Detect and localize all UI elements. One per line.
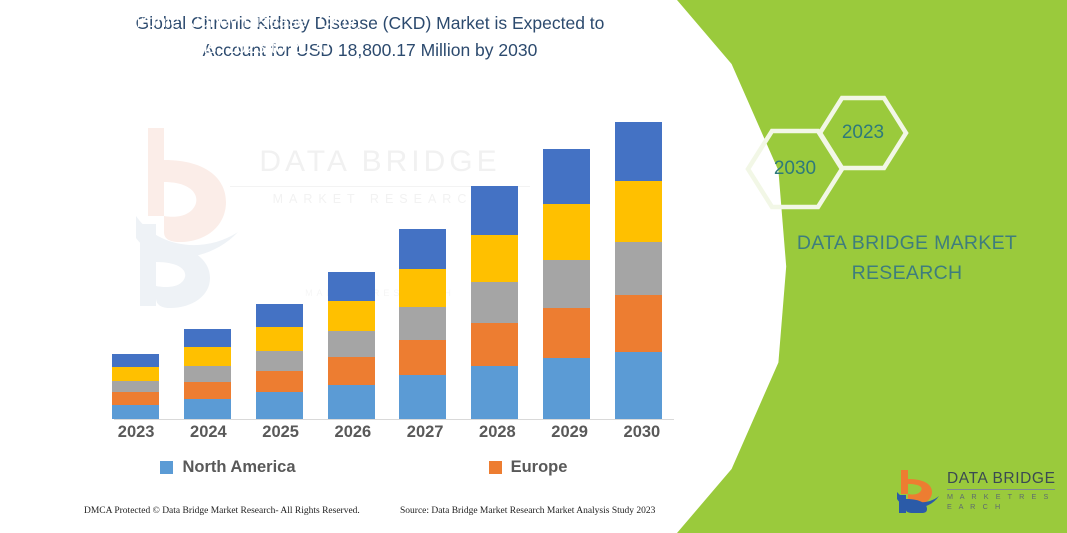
bar-segment	[256, 392, 303, 419]
stacked-bar-2023[interactable]	[112, 354, 159, 419]
bar-segment	[615, 181, 662, 242]
bar-segment	[471, 235, 518, 282]
bar-group	[459, 110, 531, 419]
data-bridge-logo-icon	[895, 468, 941, 514]
legend-label-europe: Europe	[511, 458, 568, 477]
x-axis-label: 2026	[317, 423, 389, 442]
bar-segment	[615, 295, 662, 352]
legend-swatch-north-america	[160, 461, 173, 474]
x-axis-label: 2029	[534, 423, 606, 442]
bar-segment	[543, 358, 590, 419]
stacked-bar-2029[interactable]	[543, 149, 590, 419]
hexagon-label-2023: 2023	[817, 95, 909, 171]
x-axis-label: 2024	[172, 423, 244, 442]
panel-heading-line-2: Market, By Regions, 2023 to 2030	[62, 34, 390, 60]
bar-segment	[184, 366, 231, 382]
bar-segment	[471, 323, 518, 366]
footer-source: Source: Data Bridge Market Research Mark…	[400, 506, 655, 516]
x-axis-label: 2025	[245, 423, 317, 442]
bar-segment	[399, 340, 446, 375]
stacked-bar-2024[interactable]	[184, 329, 231, 419]
x-axis-label: 2028	[461, 423, 533, 442]
data-bridge-logo-text: DATA BRIDGE M A R K E T R E S E A R C H	[947, 470, 1062, 512]
panel-brand-line-1: DATA BRIDGE MARKET	[742, 228, 1067, 258]
x-axis-label: 2023	[100, 423, 172, 442]
logo-rule	[947, 489, 1055, 490]
chart-legend: North America Europe	[78, 454, 678, 480]
legend-swatch-europe	[489, 461, 502, 474]
data-bridge-logo: DATA BRIDGE M A R K E T R E S E A R C H	[895, 466, 1060, 518]
panel-brand-line-2: RESEARCH	[742, 258, 1067, 288]
plot-area	[100, 110, 674, 420]
infographic-root: DATA BRIDGE MARKET RESEARCH MARKET RESEA…	[0, 0, 1067, 533]
bar-group	[244, 110, 316, 419]
stacked-bar-2030[interactable]	[615, 122, 662, 419]
bar-group	[602, 110, 674, 419]
stacked-bar-chart	[78, 110, 678, 420]
footer: DMCA Protected © Data Bridge Market Rese…	[0, 506, 705, 528]
bar-segment	[543, 308, 590, 358]
bar-group	[531, 110, 603, 419]
legend-label-north-america: North America	[182, 458, 295, 477]
bar-segment	[112, 392, 159, 405]
bar-segment	[184, 382, 231, 399]
bar-group	[387, 110, 459, 419]
bar-segment	[184, 399, 231, 419]
footer-copyright: DMCA Protected © Data Bridge Market Rese…	[84, 506, 360, 516]
bar-segment	[543, 260, 590, 308]
bar-group	[100, 110, 172, 419]
bar-segment	[328, 357, 375, 385]
bar-segment	[543, 149, 590, 205]
x-axis-label: 2027	[389, 423, 461, 442]
bar-segment	[112, 367, 159, 381]
bar-segment	[328, 301, 375, 331]
bar-segment	[471, 186, 518, 235]
logo-tagline: M A R K E T R E S E A R C H	[947, 492, 1062, 512]
bar-group	[315, 110, 387, 419]
bar-segment	[256, 327, 303, 351]
panel-heading-line-1: Global Chronic Kidney Disease (CKD)	[62, 8, 390, 34]
bar-segment	[112, 354, 159, 367]
panel-heading: Global Chronic Kidney Disease (CKD) Mark…	[0, 8, 390, 60]
bar-series-container	[100, 110, 674, 419]
bar-segment	[399, 375, 446, 419]
stacked-bar-2028[interactable]	[471, 186, 518, 419]
bar-segment	[112, 405, 159, 419]
bar-segment	[615, 122, 662, 181]
stacked-bar-2025[interactable]	[256, 304, 303, 419]
bar-segment	[184, 347, 231, 365]
hexagon-badge-2023: 2023	[817, 95, 909, 171]
hexagon-badges: 2030 2023	[745, 95, 945, 210]
legend-item-north-america[interactable]: North America	[78, 454, 378, 480]
bar-segment	[112, 381, 159, 393]
bar-segment	[543, 204, 590, 260]
bar-segment	[399, 307, 446, 340]
bar-segment	[328, 272, 375, 302]
bar-segment	[615, 352, 662, 419]
logo-name: DATA BRIDGE	[947, 470, 1062, 487]
legend-item-europe[interactable]: Europe	[378, 454, 678, 480]
bar-segment	[256, 304, 303, 328]
bar-segment	[471, 366, 518, 419]
x-axis-labels: 20232024202520262027202820292030	[100, 423, 678, 442]
bar-segment	[328, 331, 375, 357]
panel-brand-text: DATA BRIDGE MARKET RESEARCH	[742, 228, 1067, 288]
bar-segment	[256, 371, 303, 392]
bar-segment	[615, 242, 662, 295]
stacked-bar-2026[interactable]	[328, 272, 375, 419]
bar-segment	[471, 282, 518, 323]
bar-segment	[399, 269, 446, 306]
bar-group	[172, 110, 244, 419]
bar-segment	[256, 351, 303, 371]
bar-segment	[328, 385, 375, 419]
stacked-bar-2027[interactable]	[399, 229, 446, 419]
bar-segment	[399, 229, 446, 270]
axis-baseline	[114, 419, 674, 420]
bar-segment	[184, 329, 231, 347]
x-axis-label: 2030	[606, 423, 678, 442]
